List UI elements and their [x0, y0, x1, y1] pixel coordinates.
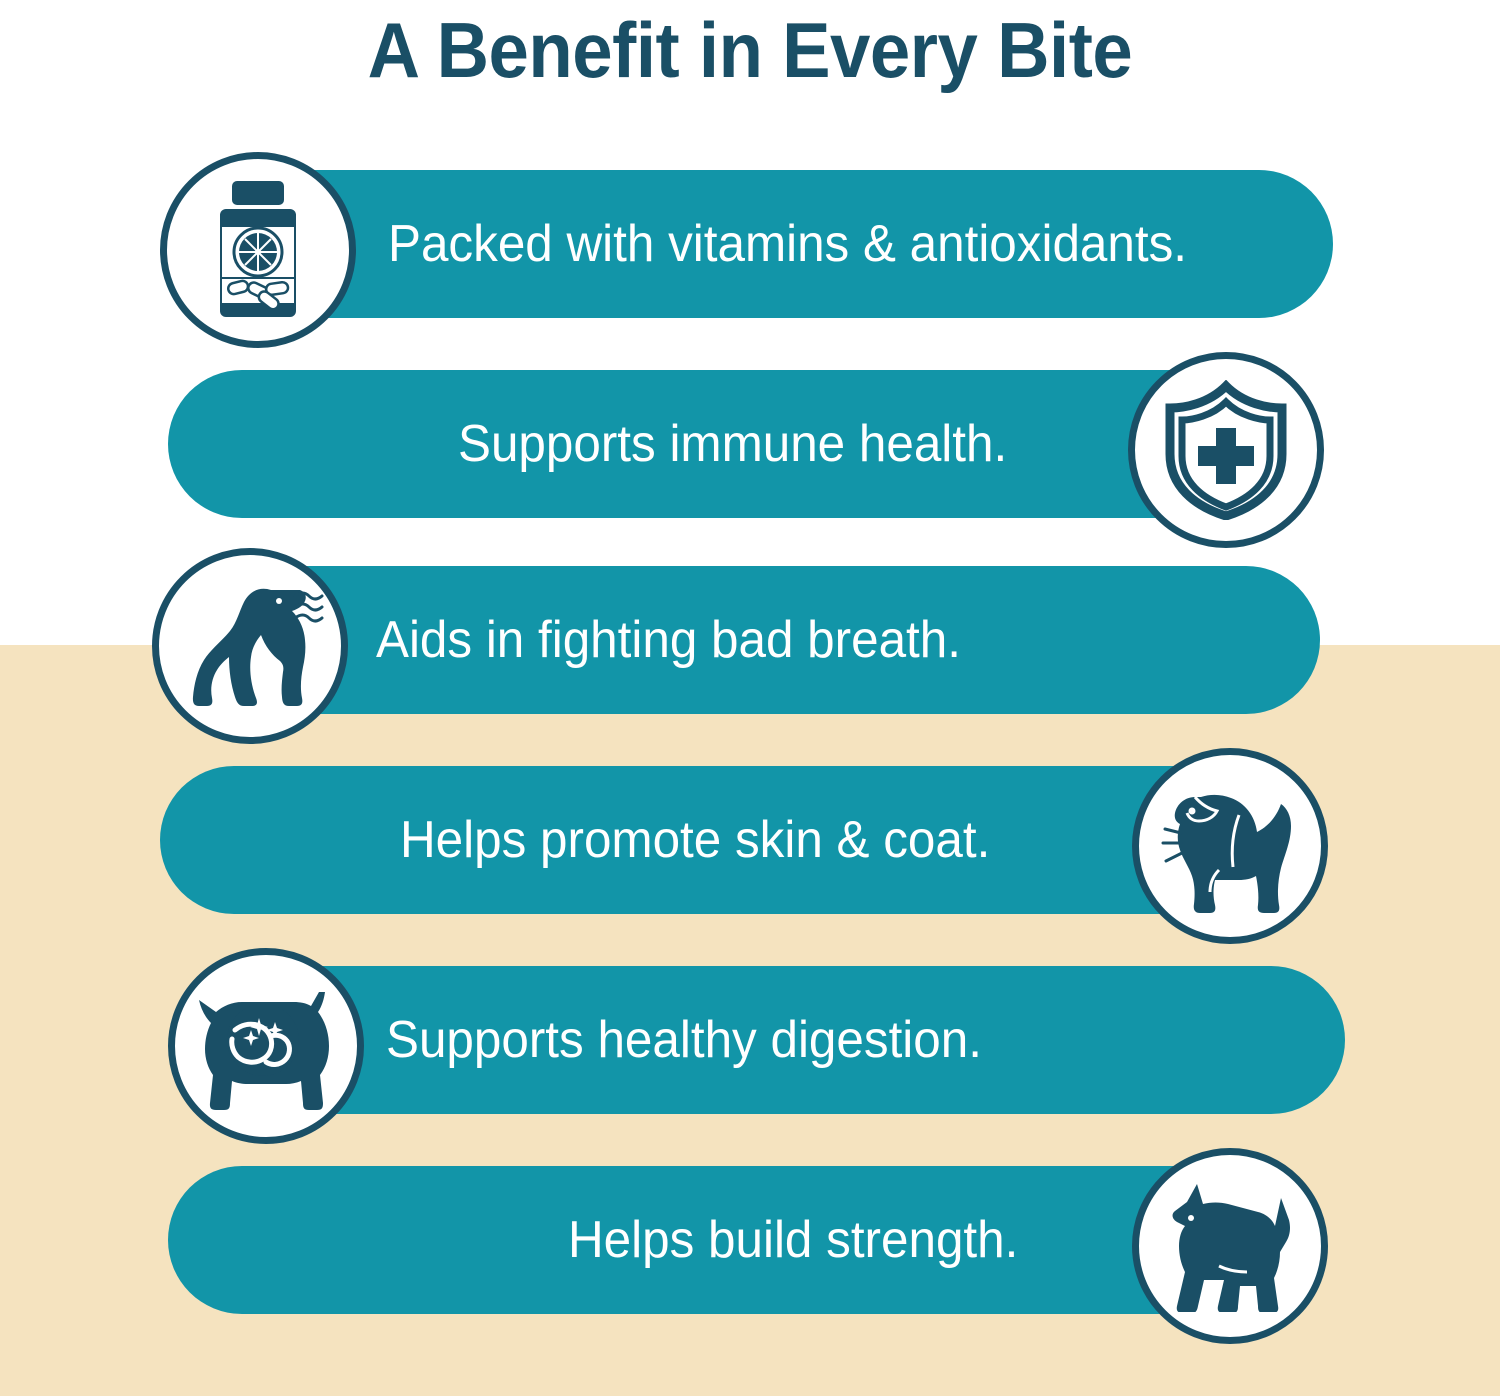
- benefit-label: Aids in fighting bad breath.: [376, 612, 961, 668]
- benefit-bar-2[interactable]: Supports immune health.: [168, 370, 1278, 518]
- benefit-row: Supports immune health.: [0, 352, 1500, 520]
- benefit-row: Aids in fighting bad breath.: [0, 548, 1500, 716]
- dog-digestion-icon: [168, 948, 364, 1144]
- benefit-label: Helps promote skin & coat.: [400, 812, 990, 868]
- benefit-bar-4[interactable]: Helps promote skin & coat.: [160, 766, 1275, 914]
- infographic-canvas: A Benefit in Every Bite Packed with vita…: [0, 0, 1500, 1396]
- benefit-label: Supports immune health.: [458, 416, 1007, 472]
- benefit-row: Helps build strength.: [0, 1148, 1500, 1316]
- benefit-label: Helps build strength.: [568, 1212, 1018, 1268]
- benefit-row: Supports healthy digestion.: [0, 948, 1500, 1116]
- benefit-row: Packed with vitamins & antioxidants.: [0, 152, 1500, 320]
- dog-strength-icon: [1132, 1148, 1328, 1344]
- dog-coat-shine-icon: [1132, 748, 1328, 944]
- benefit-bar-1[interactable]: Packed with vitamins & antioxidants.: [188, 170, 1333, 318]
- benefit-label: Packed with vitamins & antioxidants.: [388, 216, 1187, 272]
- benefit-row: Helps promote skin & coat.: [0, 748, 1500, 916]
- shield-plus-icon: [1128, 352, 1324, 548]
- benefit-bar-3[interactable]: Aids in fighting bad breath.: [180, 566, 1320, 714]
- benefit-label: Supports healthy digestion.: [386, 1012, 982, 1068]
- dog-breath-icon: [152, 548, 348, 744]
- supplement-bottle-icon: [160, 152, 356, 348]
- benefit-bar-6[interactable]: Helps build strength.: [168, 1166, 1283, 1314]
- page-title: A Benefit in Every Bite: [53, 2, 1448, 98]
